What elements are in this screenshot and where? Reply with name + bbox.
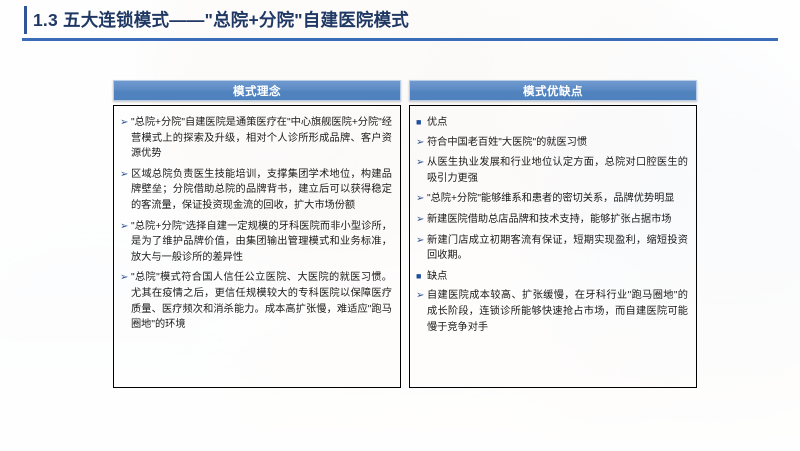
chevron-bullet-icon: ➢	[416, 233, 427, 249]
list-item-text: "总院+分院"能够维系和患者的密切关系，品牌优势明显	[427, 191, 688, 207]
list-item: ■缺点	[416, 269, 688, 285]
slide-canvas: 1.3 五大连锁模式——"总院+分院"自建医院模式 模式理念 ➢"总院+分院"自…	[0, 0, 800, 451]
chevron-bullet-icon: ➢	[120, 115, 131, 131]
page-title: 1.3 五大连锁模式——"总院+分院"自建医院模式	[33, 7, 409, 32]
chevron-bullet-icon: ➢	[416, 155, 427, 171]
list-item: ➢"总院"模式符合国人信任公立医院、大医院的就医习惯。尤其在疫情之后，更信任规模…	[120, 270, 392, 332]
panel-mode-pros-cons: 模式优缺点 ■优点➢符合中国老百姓"大医院"的就医习惯➢从医生执业发展和行业地位…	[409, 80, 697, 388]
title-accent-bar	[24, 6, 27, 34]
title-bar: 1.3 五大连锁模式——"总院+分院"自建医院模式	[0, 0, 800, 44]
chevron-bullet-icon: ➢	[416, 212, 427, 228]
panel-right-body: ■优点➢符合中国老百姓"大医院"的就医习惯➢从医生执业发展和行业地位认定方面，总…	[409, 105, 697, 388]
list-item-text: 缺点	[427, 269, 688, 285]
list-item-text: "总院"模式符合国人信任公立医院、大医院的就医习惯。尤其在疫情之后，更信任规模较…	[131, 270, 392, 332]
panel-left-header: 模式理念	[113, 80, 401, 101]
list-item: ➢"总院+分院"能够维系和患者的密切关系，品牌优势明显	[416, 191, 688, 207]
list-item-text: 从医生执业发展和行业地位认定方面，总院对口腔医生的吸引力更强	[427, 155, 688, 186]
chevron-bullet-icon: ➢	[120, 270, 131, 286]
list-item-text: 符合中国老百姓"大医院"的就医习惯	[427, 135, 688, 151]
chevron-bullet-icon: ➢	[120, 167, 131, 183]
list-item: ➢"总院+分院"自建医院是通策医疗在"中心旗舰医院+分院"经营模式上的探索及升级…	[120, 115, 392, 162]
panel-left-body: ➢"总院+分院"自建医院是通策医疗在"中心旗舰医院+分院"经营模式上的探索及升级…	[113, 105, 401, 388]
square-bullet-icon: ■	[416, 269, 427, 285]
list-item: ➢区域总院负责医生技能培训，支撑集团学术地位，构建品牌壁垒；分院借助总院的品牌背…	[120, 167, 392, 214]
panel-right-header: 模式优缺点	[409, 80, 697, 101]
square-bullet-icon: ■	[416, 115, 427, 131]
title-underline	[22, 38, 778, 41]
list-item-text: 新建门店成立初期客流有保证，短期实现盈利，缩短投资回收期。	[427, 233, 688, 264]
list-item-text: 优点	[427, 115, 688, 131]
list-item-text: 自建医院成本较高、扩张缓慢，在牙科行业"跑马圈地"的成长阶段，连锁诊所能够快速抢…	[427, 288, 688, 335]
list-item: ■优点	[416, 115, 688, 131]
list-item: ➢新建医院借助总店品牌和技术支持，能够扩张占据市场	[416, 212, 688, 228]
chevron-bullet-icon: ➢	[416, 135, 427, 151]
panel-mode-concept: 模式理念 ➢"总院+分院"自建医院是通策医疗在"中心旗舰医院+分院"经营模式上的…	[113, 80, 401, 388]
list-item: ➢新建门店成立初期客流有保证，短期实现盈利，缩短投资回收期。	[416, 233, 688, 264]
list-item: ➢"总院+分院"选择自建一定规模的牙科医院而非小型诊所，是为了维护品牌价值，由集…	[120, 219, 392, 266]
list-item: ➢自建医院成本较高、扩张缓慢，在牙科行业"跑马圈地"的成长阶段，连锁诊所能够快速…	[416, 288, 688, 335]
list-item-text: "总院+分院"自建医院是通策医疗在"中心旗舰医院+分院"经营模式上的探索及升级，…	[131, 115, 392, 162]
chevron-bullet-icon: ➢	[416, 191, 427, 207]
list-item-text: "总院+分院"选择自建一定规模的牙科医院而非小型诊所，是为了维护品牌价值，由集团…	[131, 219, 392, 266]
list-item: ➢从医生执业发展和行业地位认定方面，总院对口腔医生的吸引力更强	[416, 155, 688, 186]
list-item: ➢符合中国老百姓"大医院"的就医习惯	[416, 135, 688, 151]
list-item-text: 新建医院借助总店品牌和技术支持，能够扩张占据市场	[427, 212, 688, 228]
chevron-bullet-icon: ➢	[120, 219, 131, 235]
list-item-text: 区域总院负责医生技能培训，支撑集团学术地位，构建品牌壁垒；分院借助总院的品牌背书…	[131, 167, 392, 214]
chevron-bullet-icon: ➢	[416, 288, 427, 304]
